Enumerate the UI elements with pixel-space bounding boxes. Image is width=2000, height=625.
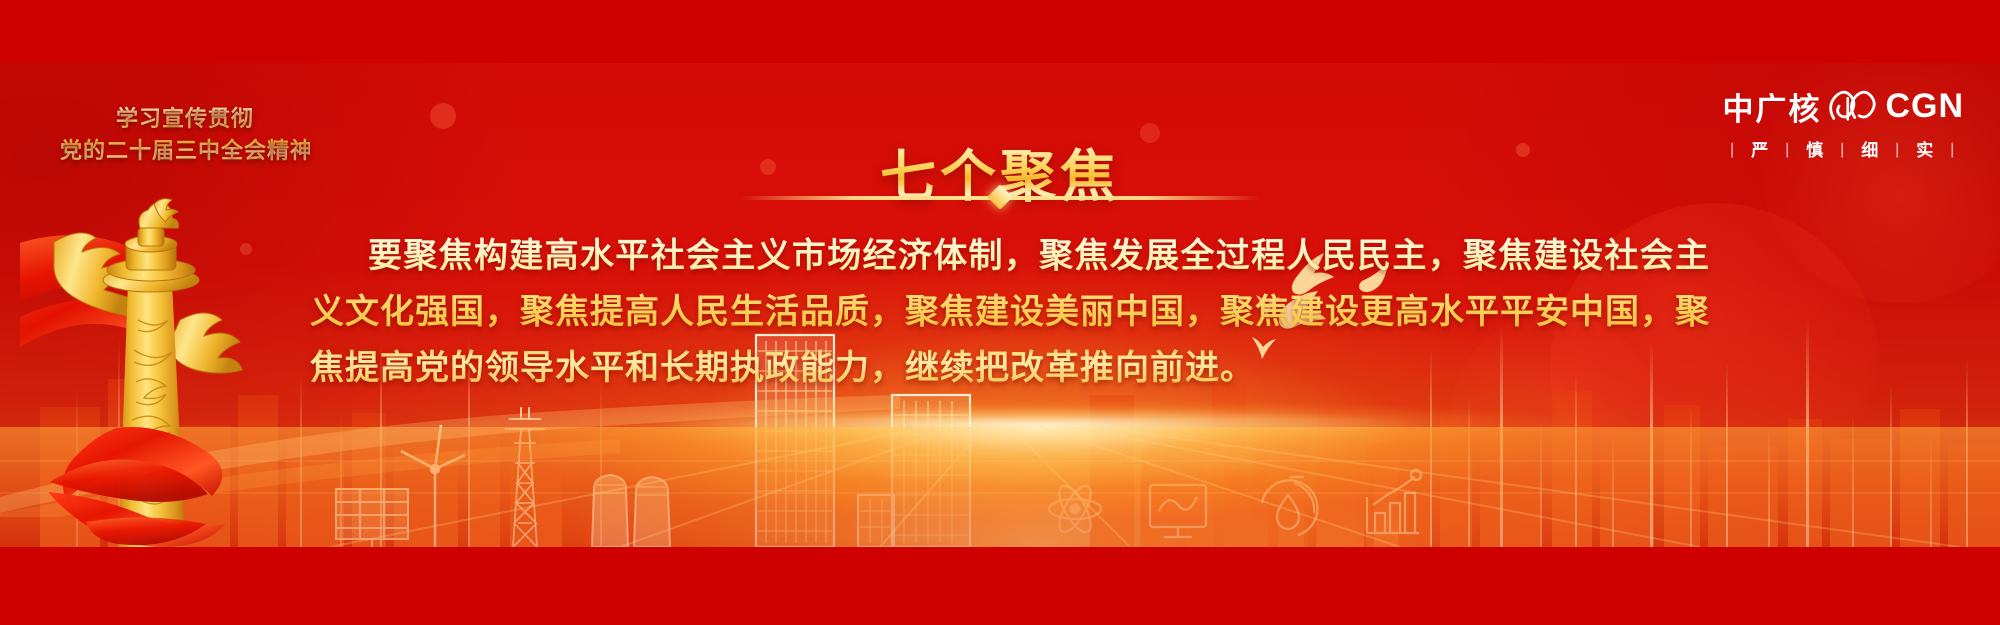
- tagline-separator: 丨: [1834, 137, 1852, 161]
- tagline-char-3: 细: [1861, 136, 1880, 161]
- tagline-separator: 丨: [1944, 137, 1962, 161]
- logo-chinese-name: 中广核: [1722, 84, 1821, 129]
- tagline-separator: 丨: [1779, 137, 1797, 161]
- logo-tagline: 丨 严 丨 慎 丨 细 丨 实 丨: [1722, 136, 1964, 161]
- logo-english-name: CGN: [1885, 87, 1964, 126]
- cloud-ornament-right: [168, 313, 242, 373]
- tagline-char-4: 实: [1916, 136, 1935, 161]
- tagline-separator: 丨: [1724, 137, 1742, 161]
- cgn-logo: 中广核 CGN 丨 严 丨 慎 丨 细 丨 实 丨: [1722, 84, 1964, 161]
- huabiao-column: [20, 170, 280, 570]
- logo-row: 中广核 CGN: [1722, 84, 1964, 129]
- tagline-char-1: 严: [1751, 136, 1770, 161]
- cgn-swirl-icon: [1825, 88, 1881, 126]
- top-bar: [0, 0, 2000, 63]
- body-text: 要聚焦构建高水平社会主义市场经济体制，聚焦发展全过程人民民主，聚焦建设社会主义文…: [310, 228, 1710, 396]
- tagline-separator: 丨: [1889, 137, 1907, 161]
- banner-root: 学习宣传贯彻 党的二十届三中全会精神 七个聚焦 要聚焦构建高水平社会主义市场经济…: [0, 0, 2000, 625]
- body-paragraph: 要聚焦构建高水平社会主义市场经济体制，聚焦发展全过程人民民主，聚焦建设社会主义文…: [310, 228, 1710, 396]
- bokeh-dot: [430, 103, 456, 129]
- ground-perspective-lines: [0, 427, 2000, 547]
- tagline-char-2: 慎: [1806, 136, 1825, 161]
- bottom-bar: [0, 547, 2000, 625]
